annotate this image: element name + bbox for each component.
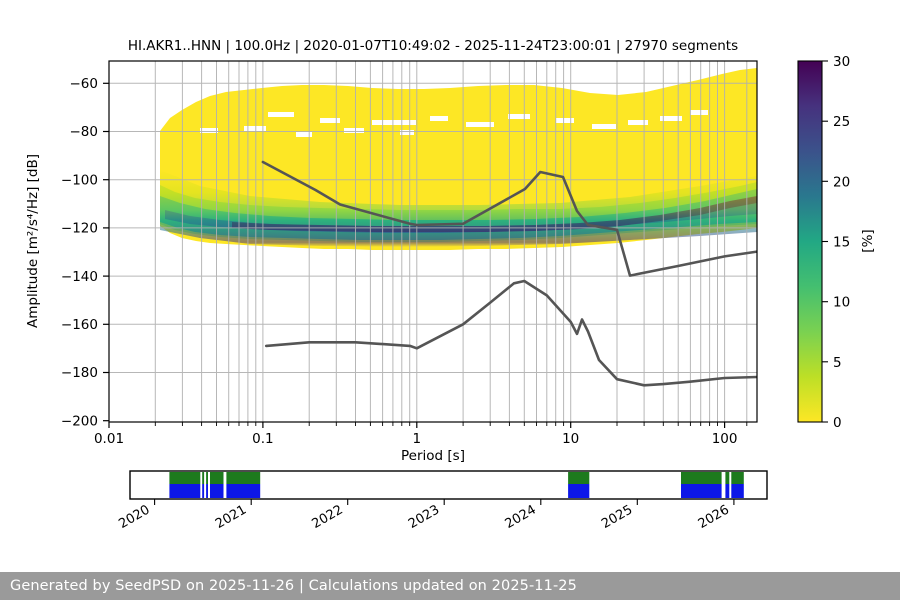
timeline-segment-lower (731, 484, 744, 498)
timeline-segment-upper (681, 472, 722, 484)
timeline-segment-upper (731, 472, 744, 484)
colorbar[interactable]: 0 5 10 15 20 25 30 [%] (798, 54, 876, 431)
colorbar-gradient (798, 61, 822, 422)
psd-svg: HI.AKR1..HNN | 100.0Hz | 2020-01-07T10:4… (0, 0, 900, 600)
x-tick-label: 1 (413, 431, 422, 447)
timeline-segment-lower (202, 484, 204, 498)
timeline-year-label: 2022 (310, 502, 346, 532)
y-axis-label: Amplitude [m²/s⁴/Hz] [dB] (25, 154, 41, 328)
x-axis-label: Period [s] (401, 448, 465, 464)
x-tick-label: 0.1 (252, 431, 273, 447)
timeline-year-label: 2024 (503, 502, 539, 532)
timeline-segment-lower (568, 484, 589, 498)
data-availability-timeline[interactable]: 2020 2021 2022 2023 2024 2025 2026 (116, 471, 767, 532)
timeline-segment-lower (681, 484, 722, 498)
footer-text: Generated by SeedPSD on 2025-11-26 | Cal… (0, 578, 577, 594)
y-tick-label: −60 (70, 76, 99, 92)
timeline-segment-lower (206, 484, 208, 498)
timeline-segment-upper (210, 472, 224, 484)
colorbar-tick-label: 25 (833, 114, 850, 130)
colorbar-tick-label: 30 (833, 54, 850, 70)
timeline-year-label: 2023 (406, 502, 442, 532)
colorbar-tick-label: 10 (833, 295, 850, 311)
x-tick-label: 100 (712, 431, 738, 447)
y-tick-label: −100 (61, 172, 98, 188)
psd-figure: HI.AKR1..HNN | 100.0Hz | 2020-01-07T10:4… (0, 0, 900, 600)
timeline-year-label: 2021 (213, 502, 249, 532)
y-tick-label: −80 (70, 124, 99, 140)
y-axis: −60 −80 −100 −120 −140 −160 −180 −200 Am… (25, 76, 109, 429)
y-tick-label: −140 (61, 269, 98, 285)
timeline-segment-lower (725, 484, 729, 498)
y-tick-label: −200 (61, 413, 98, 429)
colorbar-tick-label: 20 (833, 174, 850, 190)
timeline-segment-upper (725, 472, 729, 484)
timeline-segment-upper (568, 472, 589, 484)
x-tick-label: 10 (562, 431, 579, 447)
x-tick-label: 0.01 (94, 431, 124, 447)
colorbar-tick-label: 0 (833, 415, 842, 431)
timeline-segment-upper (206, 472, 208, 484)
timeline-segment-lower (210, 484, 224, 498)
y-tick-label: −160 (61, 317, 98, 333)
colorbar-tick-label: 15 (833, 235, 850, 251)
x-axis: 0.01 0.1 1 10 100 Period [s] (94, 422, 747, 464)
timeline-year-label: 2026 (696, 502, 732, 532)
timeline-segment-upper (169, 472, 200, 484)
timeline-segment-lower (226, 484, 260, 498)
chart-title: HI.AKR1..HNN | 100.0Hz | 2020-01-07T10:4… (128, 38, 738, 54)
timeline-segment-upper (202, 472, 204, 484)
timeline-year-label: 2025 (599, 502, 635, 532)
timeline-segment-upper (226, 472, 260, 484)
y-tick-label: −120 (61, 221, 98, 237)
footer-bar: Generated by SeedPSD on 2025-11-26 | Cal… (0, 572, 900, 600)
y-tick-label: −180 (61, 365, 98, 381)
colorbar-label: [%] (860, 229, 876, 252)
timeline-year-label: 2020 (116, 502, 152, 532)
timeline-segment-lower (169, 484, 200, 498)
colorbar-tick-label: 5 (833, 355, 842, 371)
timeline-background (130, 471, 767, 499)
